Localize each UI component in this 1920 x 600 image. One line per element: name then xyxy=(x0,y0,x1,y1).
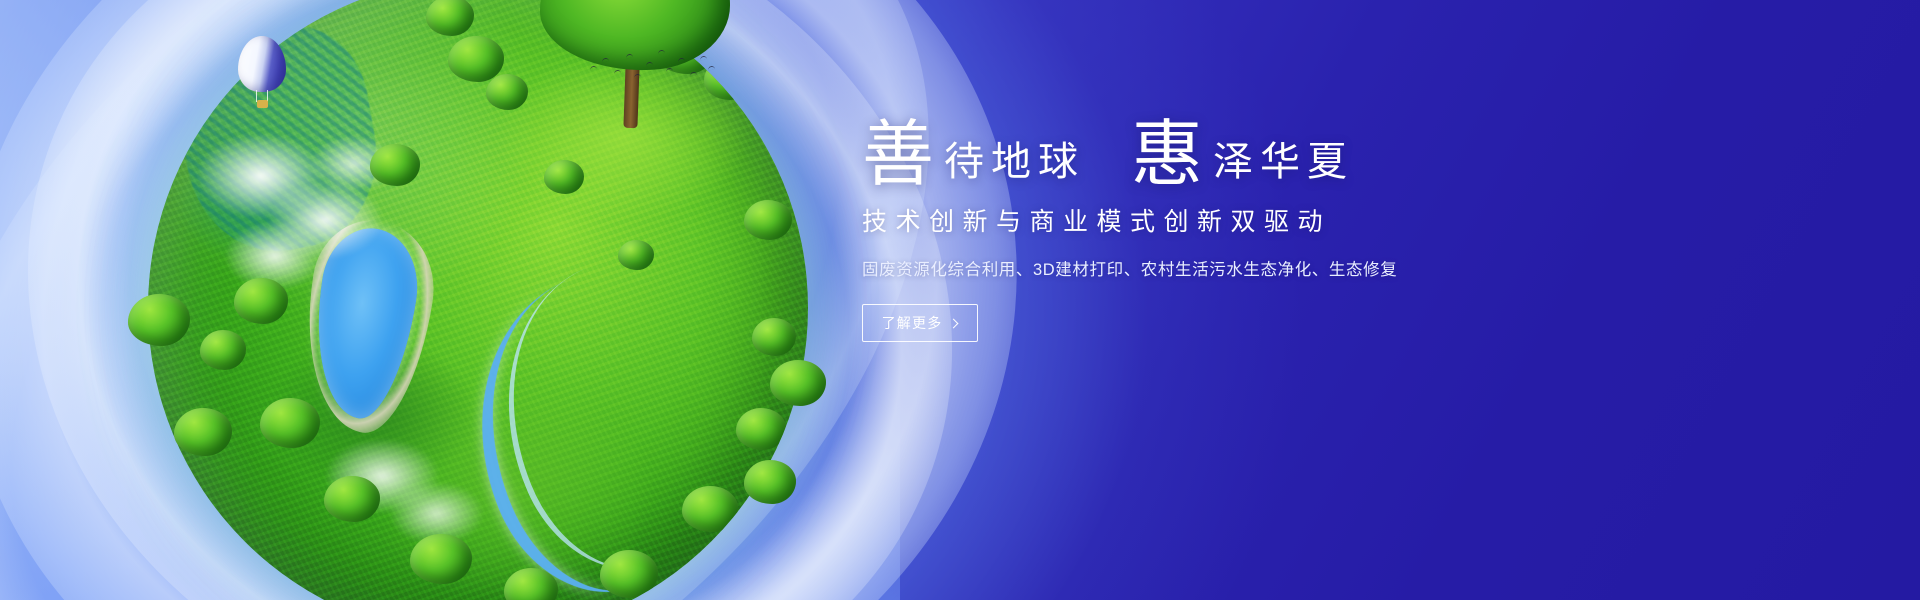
hero-subtitle: 技术创新与商业模式创新双驱动 xyxy=(862,202,1642,238)
tree-icon xyxy=(600,550,658,598)
bird-icon xyxy=(602,58,609,63)
tree-icon xyxy=(752,318,796,356)
headline-phrase-1: 善 待地球 xyxy=(862,120,1085,188)
balloon-envelope xyxy=(238,36,286,92)
tree-icon xyxy=(370,144,420,186)
tree-icon xyxy=(260,398,320,448)
bird-icon xyxy=(590,66,597,71)
tree-icon xyxy=(744,200,792,240)
hero-banner: 善 待地球 惠 泽华夏 技术创新与商业模式创新双驱动 固废资源化综合利用、3D建… xyxy=(0,0,1920,600)
headline-2-rest: 泽华夏 xyxy=(1213,142,1354,188)
tree-icon xyxy=(324,476,380,522)
bird-icon xyxy=(708,66,715,71)
bird-icon xyxy=(678,58,685,63)
headline-2-lead-char: 惠 xyxy=(1131,120,1203,188)
bird-icon xyxy=(700,56,707,61)
bird-icon xyxy=(658,50,665,55)
learn-more-label: 了解更多 xyxy=(882,313,943,333)
hot-air-balloon-icon xyxy=(238,36,286,110)
hero-headline: 善 待地球 惠 泽华夏 xyxy=(862,120,1642,188)
bird-icon xyxy=(666,68,673,73)
tree-icon xyxy=(234,278,288,324)
tree-icon xyxy=(682,486,738,532)
headline-1-lead-char: 善 xyxy=(862,120,934,188)
bird-flock xyxy=(588,48,718,94)
bird-icon xyxy=(690,72,697,77)
bird-icon xyxy=(646,62,653,67)
tree-icon xyxy=(736,408,786,450)
headline-1-rest: 待地球 xyxy=(944,142,1085,188)
bird-icon xyxy=(614,70,621,75)
tree-icon xyxy=(618,240,654,270)
balloon-basket xyxy=(257,100,268,108)
chevron-right-icon xyxy=(949,318,959,328)
tree-icon xyxy=(128,294,190,346)
tree-icon xyxy=(448,36,504,82)
hero-description: 固废资源化综合利用、3D建材打印、农村生活污水生态净化、生态修复 xyxy=(862,256,1642,280)
hero-text-block: 善 待地球 惠 泽华夏 技术创新与商业模式创新双驱动 固废资源化综合利用、3D建… xyxy=(862,120,1642,342)
tree-icon xyxy=(200,330,246,370)
tree-icon xyxy=(174,408,232,456)
bird-icon xyxy=(634,74,641,79)
headline-phrase-2: 惠 泽华夏 xyxy=(1131,120,1354,188)
tree-icon xyxy=(544,160,584,194)
tree-icon xyxy=(770,360,826,406)
learn-more-button[interactable]: 了解更多 xyxy=(862,304,978,342)
bird-icon xyxy=(626,54,633,59)
tree-icon xyxy=(744,460,796,504)
tree-icon xyxy=(486,74,528,110)
tree-icon xyxy=(410,534,472,584)
